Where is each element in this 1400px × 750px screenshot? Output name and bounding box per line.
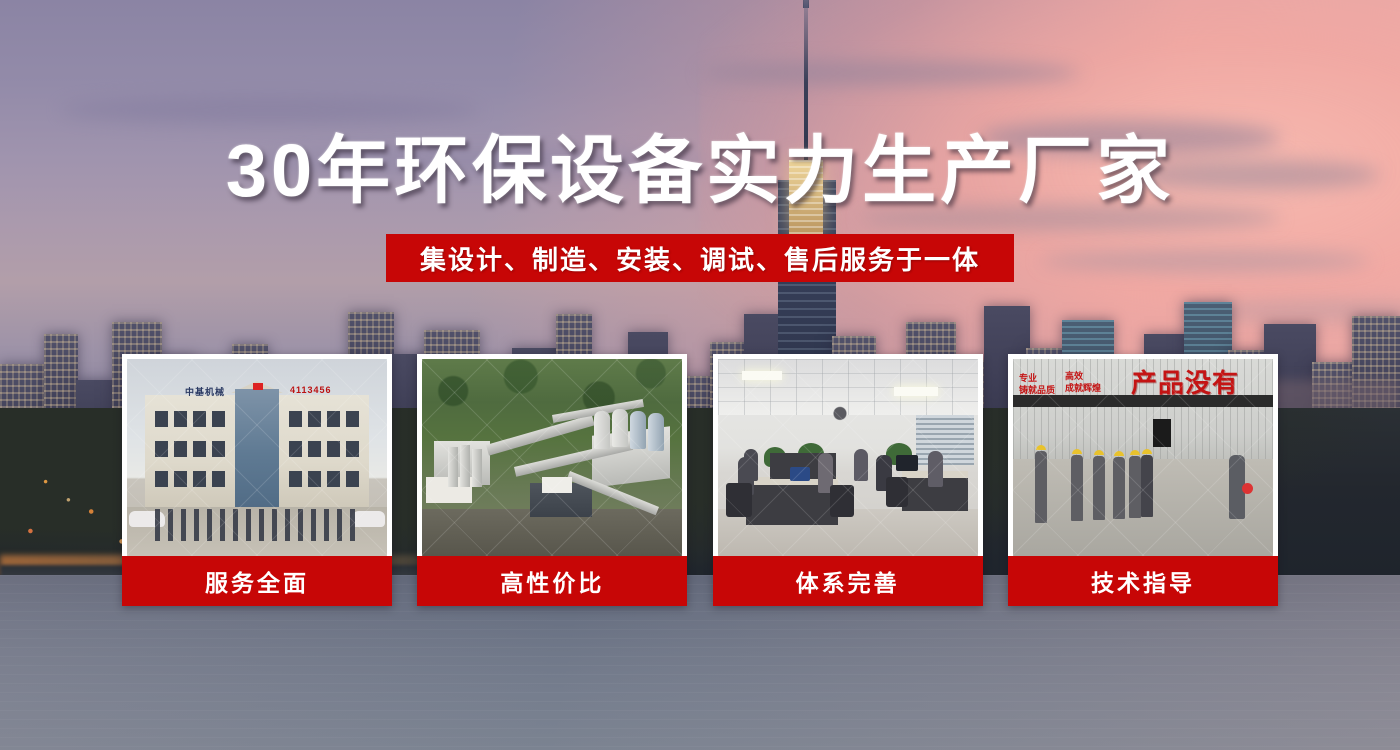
subtitle-text: 集设计、制造、安装、调试、售后服务于一体 bbox=[420, 240, 980, 277]
cloud bbox=[700, 60, 1080, 86]
staff-row bbox=[155, 509, 360, 541]
card-label-text: 体系完善 bbox=[796, 564, 900, 598]
feature-card[interactable]: 体系完善 bbox=[713, 354, 983, 606]
card-label-text: 服务全面 bbox=[205, 564, 309, 598]
factory-slogan-left: 专业 铸就品质 bbox=[1019, 373, 1055, 396]
card-label-text: 高性价比 bbox=[500, 564, 604, 598]
feature-card[interactable]: 高性价比 bbox=[417, 354, 687, 606]
building-sign-text: 中基机械 bbox=[185, 385, 225, 398]
flag bbox=[253, 383, 263, 390]
card-thumbnail-plant bbox=[422, 359, 682, 556]
page-title: 30年环保设备实力生产厂家 bbox=[0, 134, 1400, 208]
card-label-text: 技术指导 bbox=[1091, 564, 1195, 598]
card-label-bar: 体系完善 bbox=[713, 556, 983, 606]
red-helmet bbox=[1242, 483, 1253, 494]
feature-card-list: 中基机械 4113456 服务全面 bbox=[122, 354, 1278, 606]
factory-slogan-right: 高效 成就辉煌 bbox=[1065, 371, 1101, 394]
card-thumbnail-workers: 专业 铸就品质 高效 成就辉煌 产品没有 bbox=[1013, 359, 1273, 556]
cloud bbox=[60, 96, 480, 124]
feature-card[interactable]: 中基机械 4113456 服务全面 bbox=[122, 354, 392, 606]
card-thumbnail-headquarters: 中基机械 4113456 bbox=[127, 359, 387, 556]
card-label-bar: 服务全面 bbox=[122, 556, 392, 606]
card-label-bar: 技术指导 bbox=[1008, 556, 1278, 606]
factory-door bbox=[1153, 419, 1171, 447]
wall-logo bbox=[822, 403, 858, 429]
building-phone-text: 4113456 bbox=[290, 385, 332, 395]
promo-banner: 30年环保设备实力生产厂家 集设计、制造、安装、调试、售后服务于一体 bbox=[0, 0, 1400, 750]
subtitle-banner: 集设计、制造、安装、调试、售后服务于一体 bbox=[386, 234, 1014, 282]
feature-card[interactable]: 专业 铸就品质 高效 成就辉煌 产品没有 bbox=[1008, 354, 1278, 606]
card-thumbnail-office bbox=[718, 359, 978, 556]
card-label-bar: 高性价比 bbox=[417, 556, 687, 606]
